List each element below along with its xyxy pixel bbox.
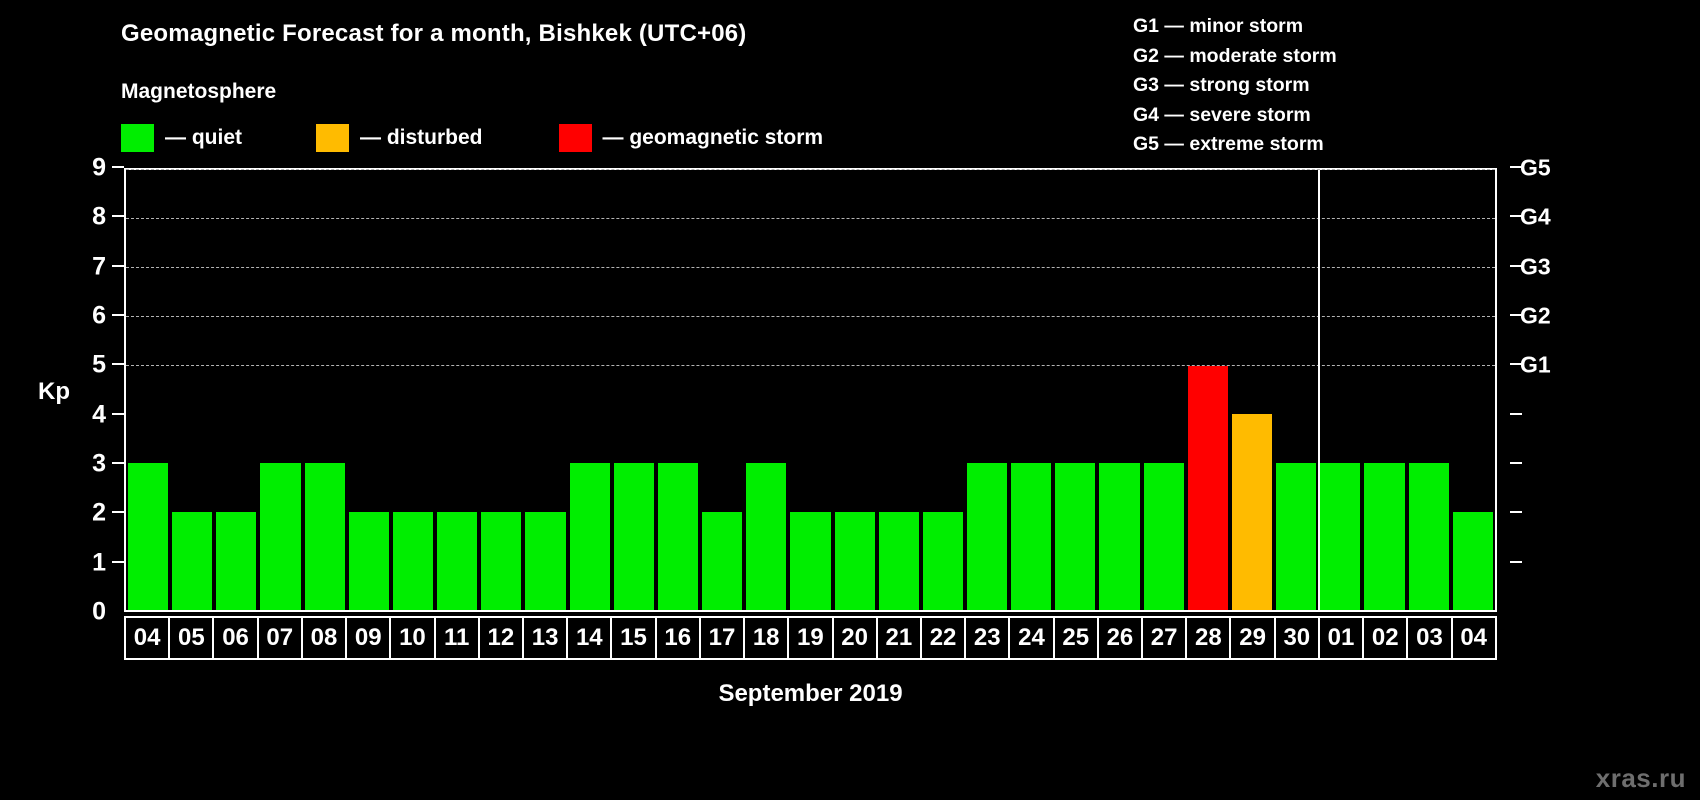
bar[interactable]: [481, 512, 521, 610]
y-axis-labels: 0123456789: [60, 168, 110, 612]
g-tick-mark: [1510, 462, 1522, 464]
bar-cell[interactable]: [170, 170, 214, 610]
day-label[interactable]: 27: [1143, 618, 1187, 658]
g-tick-label: G4: [1520, 204, 1551, 231]
day-label[interactable]: 21: [878, 618, 922, 658]
bar-cell[interactable]: [1274, 170, 1318, 610]
bar[interactable]: [967, 463, 1007, 610]
day-label[interactable]: 10: [391, 618, 435, 658]
bar[interactable]: [879, 512, 919, 610]
bar-cell[interactable]: [700, 170, 744, 610]
day-label[interactable]: 24: [1010, 618, 1054, 658]
bar[interactable]: [1232, 414, 1272, 610]
y-tick-label: 7: [92, 252, 106, 281]
day-label[interactable]: 08: [303, 618, 347, 658]
legend-entry-storm: — geomagnetic storm: [559, 124, 824, 152]
y-tick-mark: [112, 561, 124, 563]
g-tick-mark: [1510, 413, 1522, 415]
bar[interactable]: [525, 512, 565, 610]
bar[interactable]: [1188, 366, 1228, 610]
bar-cell[interactable]: [744, 170, 788, 610]
bar-cell[interactable]: [1009, 170, 1053, 610]
legend-swatch-disturbed-icon: [316, 124, 349, 152]
bar-cell[interactable]: [479, 170, 523, 610]
day-label[interactable]: 05: [170, 618, 214, 658]
bar-cell[interactable]: [656, 170, 700, 610]
day-label[interactable]: 01: [1320, 618, 1364, 658]
bar[interactable]: [349, 512, 389, 610]
bar[interactable]: [790, 512, 830, 610]
bar[interactable]: [1409, 463, 1449, 610]
bar-cell[interactable]: [1186, 170, 1230, 610]
y-tick-label: 1: [92, 548, 106, 577]
bar-series: [126, 170, 1495, 610]
bar-cell[interactable]: [1318, 170, 1362, 610]
bar[interactable]: [1320, 463, 1360, 610]
day-label[interactable]: 07: [259, 618, 303, 658]
y-tick-label: 6: [92, 302, 106, 331]
y-tick-label: 9: [92, 154, 106, 183]
bar[interactable]: [746, 463, 786, 610]
bar[interactable]: [1364, 463, 1404, 610]
bar-cell[interactable]: [877, 170, 921, 610]
legend-entry-quiet: — quiet: [121, 124, 242, 152]
bar-cell[interactable]: [1097, 170, 1141, 610]
day-label[interactable]: 22: [922, 618, 966, 658]
bar-cell[interactable]: [1230, 170, 1274, 610]
day-label[interactable]: 02: [1364, 618, 1408, 658]
bar-cell[interactable]: [1362, 170, 1406, 610]
bar-cell[interactable]: [833, 170, 877, 610]
day-label[interactable]: 11: [436, 618, 480, 658]
y-tick-mark: [112, 265, 124, 267]
bar-cell[interactable]: [347, 170, 391, 610]
y-tick-label: 5: [92, 351, 106, 380]
bar[interactable]: [658, 463, 698, 610]
bar-cell[interactable]: [612, 170, 656, 610]
day-label[interactable]: 04: [1453, 618, 1495, 658]
storm-scale-legend: G1 — minor storm G2 — moderate storm G3 …: [1133, 12, 1337, 160]
bar[interactable]: [305, 463, 345, 610]
day-label[interactable]: 17: [701, 618, 745, 658]
legend-label-disturbed: — disturbed: [360, 126, 483, 150]
day-label[interactable]: 16: [657, 618, 701, 658]
y-tick-mark: [112, 215, 124, 217]
bar[interactable]: [570, 463, 610, 610]
g-tick-mark: [1510, 561, 1522, 563]
day-label[interactable]: 13: [524, 618, 568, 658]
bar[interactable]: [1011, 463, 1051, 610]
y-tick-mark: [112, 413, 124, 415]
g-tick-label: G5: [1520, 155, 1551, 182]
bar-cell[interactable]: [303, 170, 347, 610]
bar-cell[interactable]: [568, 170, 612, 610]
bar-cell[interactable]: [788, 170, 832, 610]
day-label[interactable]: 25: [1055, 618, 1099, 658]
storm-scale-row: G5 — extreme storm: [1133, 130, 1337, 160]
legend-label-storm: — geomagnetic storm: [603, 126, 824, 150]
y-tick-label: 2: [92, 499, 106, 528]
month-caption: September 2019: [124, 680, 1497, 708]
bar[interactable]: [1453, 512, 1493, 610]
legend-entry-disturbed: — disturbed: [316, 124, 483, 152]
day-label[interactable]: 20: [834, 618, 878, 658]
y-tick-mark: [112, 363, 124, 365]
day-label[interactable]: 09: [347, 618, 391, 658]
g-tick-label: G3: [1520, 253, 1551, 280]
bar-cell[interactable]: [1142, 170, 1186, 610]
bar-cell[interactable]: [523, 170, 567, 610]
legend-swatch-storm-icon: [559, 124, 592, 152]
magnetosphere-label: Magnetosphere: [121, 80, 276, 104]
legend-swatch-quiet-icon: [121, 124, 154, 152]
y-tick-mark: [112, 462, 124, 464]
bar-cell[interactable]: [391, 170, 435, 610]
day-label[interactable]: 23: [966, 618, 1010, 658]
y-tick-mark: [112, 511, 124, 513]
bar-cell[interactable]: [214, 170, 258, 610]
day-label[interactable]: 30: [1276, 618, 1320, 658]
bar[interactable]: [614, 463, 654, 610]
plot-area: [124, 168, 1497, 612]
day-label[interactable]: 06: [214, 618, 258, 658]
bar[interactable]: [216, 512, 256, 610]
y-tick-label: 0: [92, 598, 106, 627]
page-title: Geomagnetic Forecast for a month, Bishke…: [121, 20, 746, 48]
y-tick-label: 3: [92, 450, 106, 479]
bar-cell[interactable]: [965, 170, 1009, 610]
bar-cell[interactable]: [921, 170, 965, 610]
bar-cell[interactable]: [1407, 170, 1451, 610]
bar[interactable]: [702, 512, 742, 610]
day-label[interactable]: 26: [1099, 618, 1143, 658]
g-tick-label: G1: [1520, 352, 1551, 379]
g-tick-label: G2: [1520, 303, 1551, 330]
storm-scale-row: G1 — minor storm: [1133, 12, 1337, 42]
bar[interactable]: [128, 463, 168, 610]
y-tick-label: 8: [92, 203, 106, 232]
day-label[interactable]: 29: [1231, 618, 1275, 658]
bar[interactable]: [172, 512, 212, 610]
bar-cell[interactable]: [1053, 170, 1097, 610]
day-label[interactable]: 18: [745, 618, 789, 658]
y-tick-label: 4: [92, 400, 106, 429]
bar[interactable]: [835, 512, 875, 610]
bar[interactable]: [1099, 463, 1139, 610]
bar[interactable]: [260, 463, 300, 610]
g-tick-mark: [1510, 511, 1522, 513]
watermark: xras.ru: [1596, 763, 1686, 794]
day-label[interactable]: 28: [1187, 618, 1231, 658]
bar[interactable]: [1144, 463, 1184, 610]
storm-scale-row: G4 — severe storm: [1133, 101, 1337, 131]
bar-cell[interactable]: [1451, 170, 1495, 610]
bar[interactable]: [923, 512, 963, 610]
y-tick-mark: [112, 166, 124, 168]
storm-scale-row: G2 — moderate storm: [1133, 42, 1337, 72]
bar[interactable]: [393, 512, 433, 610]
bar-cell[interactable]: [126, 170, 170, 610]
legend-label-quiet: — quiet: [165, 126, 242, 150]
bar-cell[interactable]: [258, 170, 302, 610]
storm-scale-row: G3 — strong storm: [1133, 71, 1337, 101]
bar[interactable]: [1055, 463, 1095, 610]
day-label[interactable]: 19: [789, 618, 833, 658]
bar-cell[interactable]: [435, 170, 479, 610]
day-label[interactable]: 15: [612, 618, 656, 658]
day-label[interactable]: 14: [568, 618, 612, 658]
day-label[interactable]: 03: [1408, 618, 1452, 658]
bar[interactable]: [1276, 463, 1316, 610]
color-legend: — quiet — disturbed — geomagnetic storm: [121, 123, 823, 153]
g-scale-axis-labels: G1G2G3G4G5: [1510, 168, 1590, 612]
day-label[interactable]: 04: [126, 618, 170, 658]
y-tick-mark: [112, 314, 124, 316]
bar[interactable]: [437, 512, 477, 610]
day-label[interactable]: 12: [480, 618, 524, 658]
day-axis-labels: 0405060708091011121314151617181920212223…: [124, 616, 1497, 660]
